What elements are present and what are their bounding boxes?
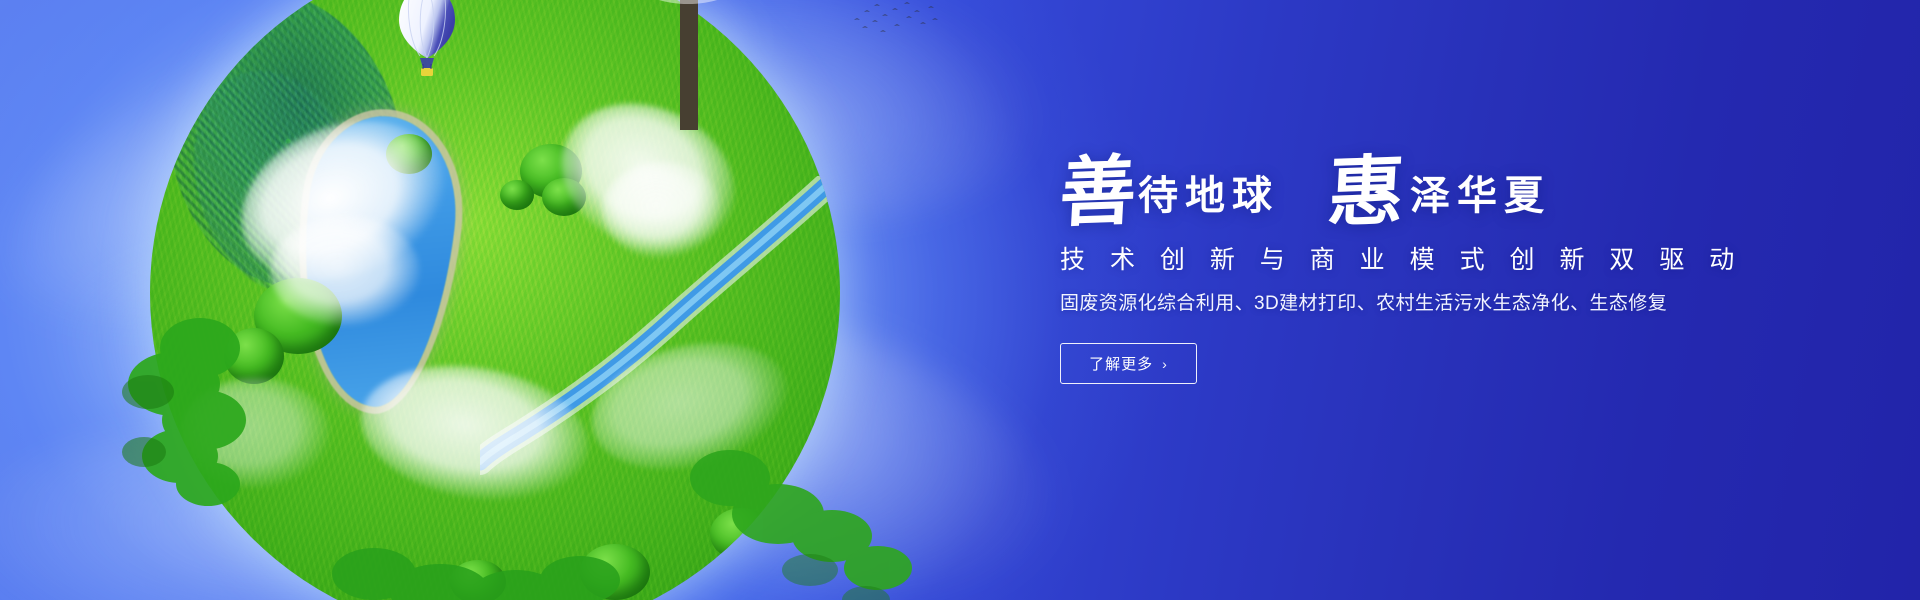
globe-illustration <box>150 0 840 600</box>
headline: 善 待地球 惠 泽华夏 <box>1060 132 1680 224</box>
headline-char-shan: 善 <box>1058 153 1138 232</box>
surface-cloud-icon <box>602 162 722 258</box>
chevron-right-icon: › <box>1162 356 1168 372</box>
hero-tree-icon <box>538 0 838 130</box>
hero-banner: 善 待地球 惠 泽华夏 技 术 创 新 与 商 业 模 式 创 新 双 驱 动 … <box>0 0 1920 600</box>
subtitle: 技 术 创 新 与 商 业 模 式 创 新 双 驱 动 <box>1060 244 1680 277</box>
tree-clump <box>500 180 534 210</box>
hero-copy: 善 待地球 惠 泽华夏 技 术 创 新 与 商 业 模 式 创 新 双 驱 动 … <box>1060 132 1680 384</box>
learn-more-button[interactable]: 了解更多 › <box>1060 343 1197 384</box>
headline-phrase-daidiqiu: 待地球 <box>1138 176 1279 216</box>
hot-air-balloon-icon <box>396 0 458 80</box>
surface-cloud-icon <box>270 216 420 326</box>
headline-phrase-zehuaxia: 泽华夏 <box>1410 176 1551 216</box>
description: 固废资源化综合利用、3D建材打印、农村生活污水生态净化、生态修复 <box>1060 291 1680 318</box>
headline-char-hui: 惠 <box>1326 153 1406 232</box>
learn-more-label: 了解更多 <box>1089 353 1153 374</box>
surface-cloud-icon <box>350 349 599 517</box>
rim-tree-icon <box>330 496 630 600</box>
rim-tree-icon <box>104 288 254 518</box>
bird-flock-icon <box>850 0 940 42</box>
rim-tree-icon <box>690 418 920 600</box>
